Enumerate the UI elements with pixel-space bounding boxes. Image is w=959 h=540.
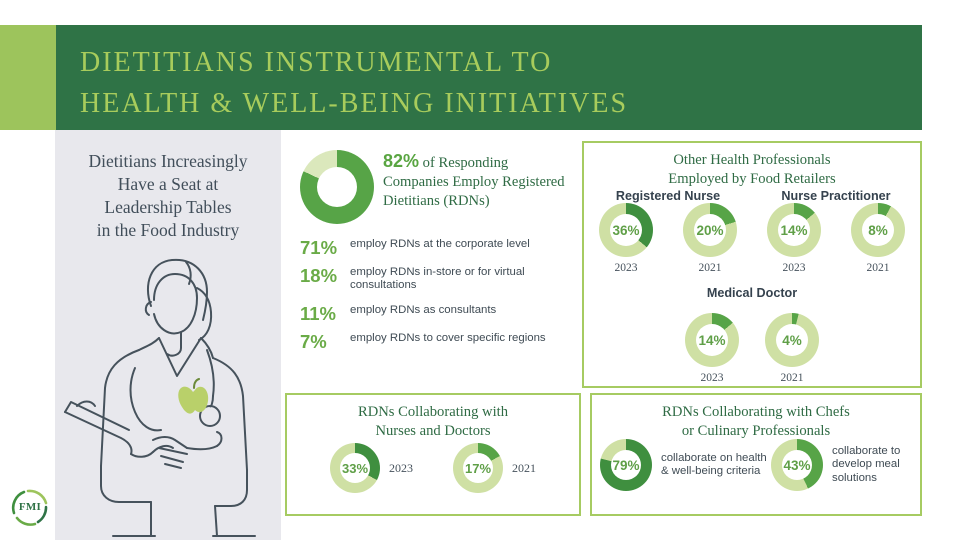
donut-value-label: 43%: [771, 439, 823, 491]
page-title-line-1: DIETITIANS INSTRUMENTAL TO: [80, 42, 910, 83]
group-label-medical-doctor: Medical Doctor: [584, 286, 920, 300]
health-donut-cell: 14%2023: [685, 313, 739, 384]
donut-value-label: 79%: [600, 439, 652, 491]
panel-health-title: Other Health Professionals Employed by F…: [584, 151, 920, 188]
panel-nurses-title-line-2: Nurses and Doctors: [287, 422, 579, 441]
panel-health-title-line-1: Other Health Professionals: [584, 151, 920, 170]
left-heading-line-1: Dietitians Increasingly: [58, 150, 278, 173]
donut-year-label: 2023: [701, 372, 724, 384]
left-heading-line-2: Have a Seat at: [58, 173, 278, 196]
stat-description: employ RDNs in-store or for virtual cons…: [350, 266, 575, 293]
health-donut-row-top: 36%202320%202114%20238%2021: [584, 203, 920, 274]
chefs-item-description: collaborate to develop meal solutions: [832, 445, 942, 485]
donut-4: 4%: [765, 313, 819, 367]
donut-value-label: 36%: [599, 203, 653, 257]
donut-14: 14%: [767, 203, 821, 257]
stat-percent: 7%: [300, 332, 350, 349]
stat-row: 11%employ RDNs as consultants: [300, 304, 575, 321]
health-donut-row-bottom: 14%20234%2021: [584, 313, 920, 384]
page-title-line-2: HEALTH & WELL-BEING INITIATIVES: [80, 83, 910, 124]
panel-health-title-line-2: Employed by Food Retailers: [584, 170, 920, 189]
donut-value-label: 4%: [765, 313, 819, 367]
chefs-item: 79%collaborate on health & well-being cr…: [600, 439, 771, 491]
panel-chefs-title-line-1: RDNs Collaborating with Chefs: [592, 403, 920, 422]
donut-hole: [317, 167, 357, 207]
donut-: [300, 150, 374, 224]
donut-33: 33%: [330, 443, 380, 493]
donut-20: 20%: [683, 203, 737, 257]
panel-chefs-title: RDNs Collaborating with Chefs or Culinar…: [592, 403, 920, 440]
donut-17: 17%: [453, 443, 503, 493]
nurses-donut-row: 33%202317%2021: [287, 443, 579, 493]
stat-row: 18%employ RDNs in-store or for virtual c…: [300, 266, 575, 293]
donut-year-label: 2023: [389, 461, 413, 476]
stat-description: employ RDNs to cover specific regions: [350, 332, 546, 345]
panel-nurses-title-line-1: RDNs Collaborating with: [287, 403, 579, 422]
page-title: DIETITIANS INSTRUMENTAL TO HEALTH & WELL…: [80, 42, 910, 124]
chefs-item-row: 79%collaborate on health & well-being cr…: [600, 439, 912, 491]
left-heading-line-4: in the Food Industry: [58, 219, 278, 242]
donut-value-label: 33%: [330, 443, 380, 493]
stat-description: employ RDNs as consultants: [350, 304, 496, 317]
center-stat-list: 71%employ RDNs at the corporate level18%…: [300, 238, 575, 360]
donut-value-label: 14%: [685, 313, 739, 367]
donut-43: 43%: [771, 439, 823, 491]
nurses-donut-pair: 17%2021: [453, 443, 536, 493]
donut-value-label: 20%: [683, 203, 737, 257]
center-lede-pct: 82%: [383, 151, 419, 171]
stat-percent: 18%: [300, 266, 350, 283]
fmi-logo-text: FMI: [8, 485, 52, 529]
donut-79: 79%: [600, 439, 652, 491]
stat-percent: 11%: [300, 304, 350, 321]
stat-description: employ RDNs at the corporate level: [350, 238, 530, 251]
dietitian-illustration: [55, 240, 281, 540]
left-heading-line-3: Leadership Tables: [58, 196, 278, 219]
center-lede: 82% of Responding Companies Employ Regis…: [383, 152, 573, 211]
header-accent-block: [0, 25, 56, 130]
donut-year-label: 2021: [512, 461, 536, 476]
health-donut-cell: 14%2023: [752, 203, 836, 274]
donut-value-label: 8%: [851, 203, 905, 257]
health-donut-cell: 20%2021: [668, 203, 752, 274]
group-label-registered-nurse: Registered Nurse: [584, 189, 752, 203]
panel-chefs-culinary: RDNs Collaborating with Chefs or Culinar…: [590, 393, 922, 516]
panel-nurses-doctors: RDNs Collaborating with Nurses and Docto…: [285, 393, 581, 516]
donut-14: 14%: [685, 313, 739, 367]
panel-nurses-title: RDNs Collaborating with Nurses and Docto…: [287, 403, 579, 440]
health-donut-cell: 36%2023: [584, 203, 668, 274]
health-donut-cell: 8%2021: [836, 203, 920, 274]
left-panel-heading: Dietitians Increasingly Have a Seat at L…: [58, 150, 278, 242]
stat-percent: 71%: [300, 238, 350, 255]
health-donut-cell: 4%2021: [765, 313, 819, 384]
stat-row: 71%employ RDNs at the corporate level: [300, 238, 575, 255]
nurses-donut-pair: 33%2023: [330, 443, 413, 493]
apple-icon: [178, 387, 208, 414]
donut-value-label: 14%: [767, 203, 821, 257]
infographic-root: DIETITIANS INSTRUMENTAL TO HEALTH & WELL…: [0, 0, 959, 540]
donut-8: 8%: [851, 203, 905, 257]
donut-36: 36%: [599, 203, 653, 257]
group-label-nurse-practitioner: Nurse Practitioner: [752, 189, 920, 203]
stat-row: 7%employ RDNs to cover specific regions: [300, 332, 575, 349]
donut-year-label: 2021: [699, 262, 722, 274]
donut-year-label: 2023: [783, 262, 806, 274]
donut-year-label: 2023: [615, 262, 638, 274]
donut-value-label: 17%: [453, 443, 503, 493]
donut-year-label: 2021: [867, 262, 890, 274]
donut-82: [300, 150, 374, 224]
chefs-item: 43%collaborate to develop meal solutions: [771, 439, 942, 491]
panel-health-professionals: Other Health Professionals Employed by F…: [582, 141, 922, 388]
panel-chefs-title-line-2: or Culinary Professionals: [592, 422, 920, 441]
chefs-item-description: collaborate on health & well-being crite…: [661, 452, 771, 478]
donut-year-label: 2021: [781, 372, 804, 384]
